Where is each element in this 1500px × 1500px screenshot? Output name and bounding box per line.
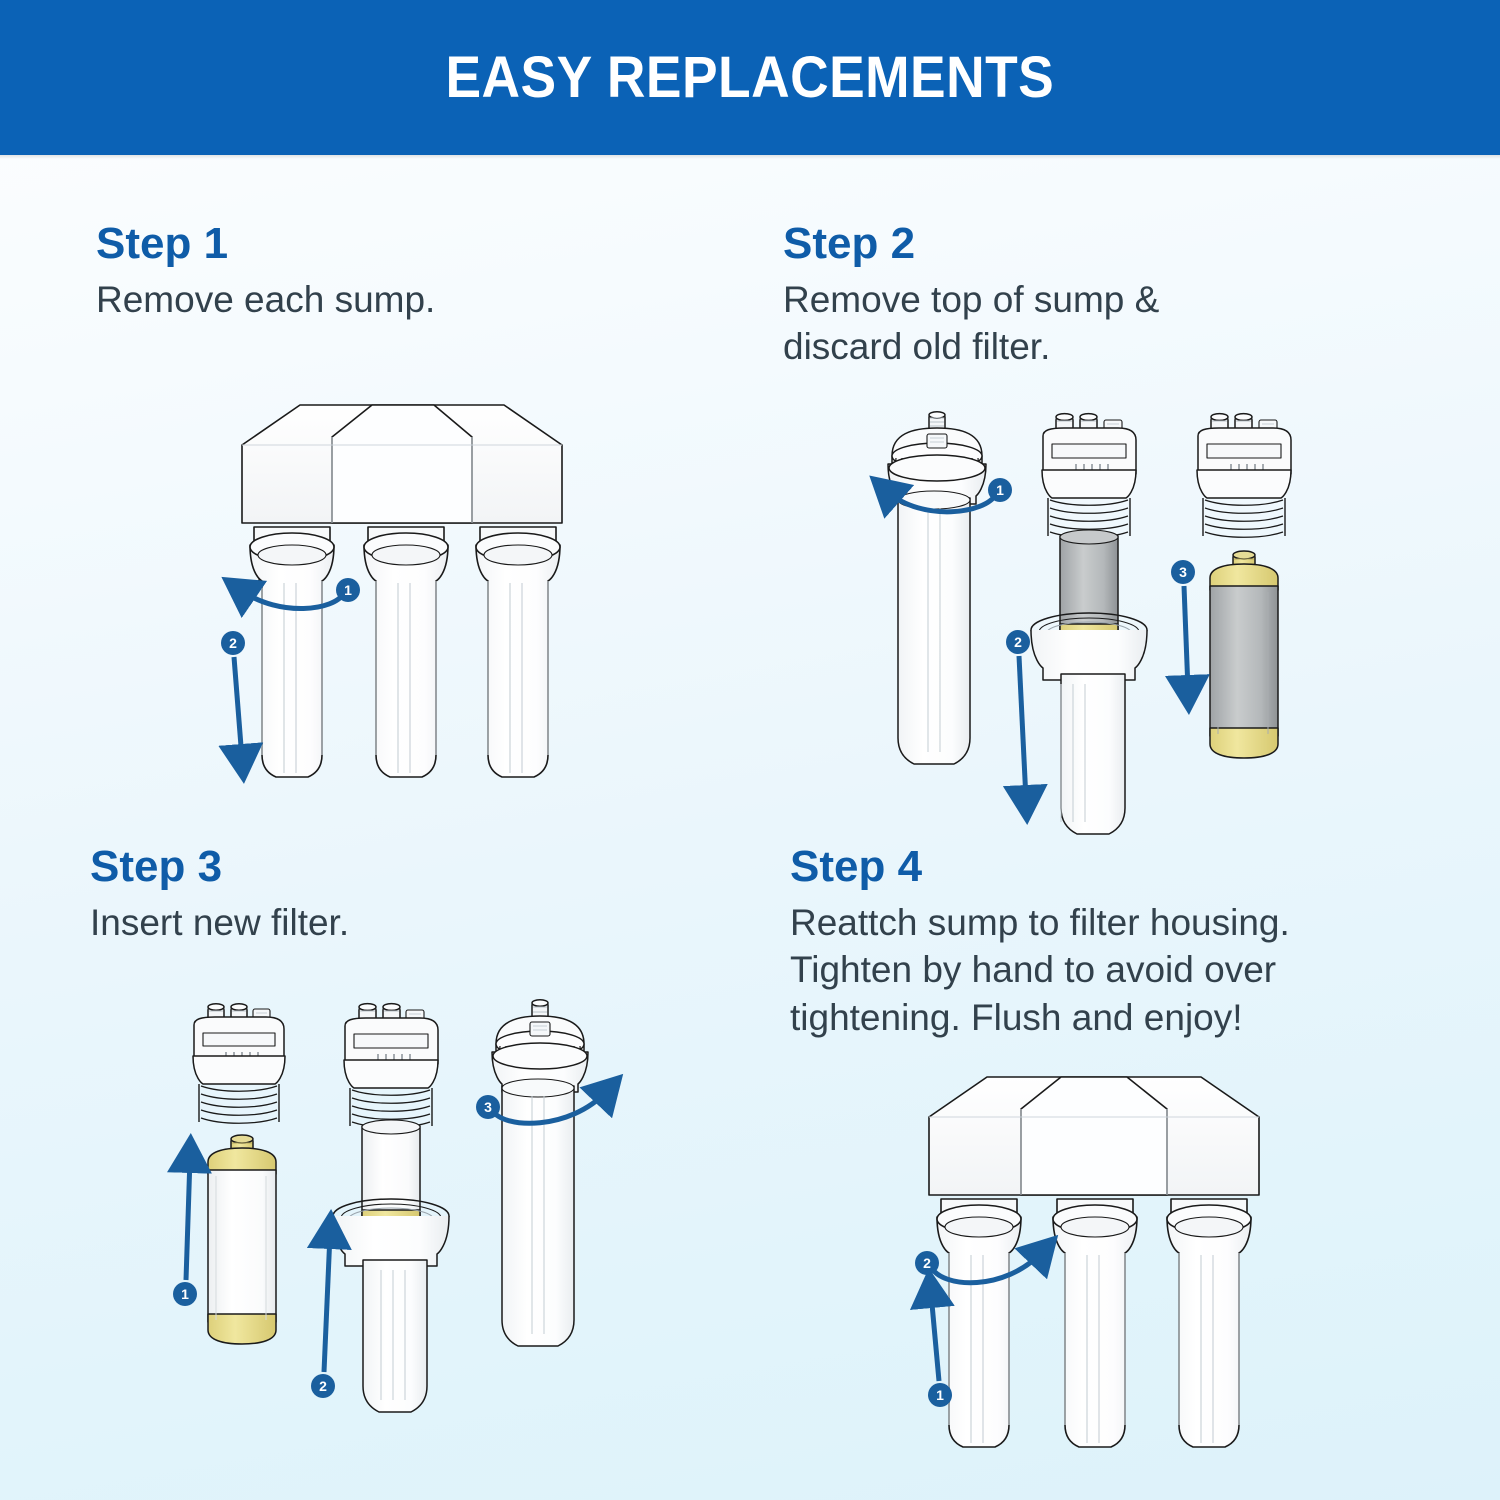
step-3-text: Insert new filter. <box>90 899 349 946</box>
filter-housing-manifold <box>242 405 562 523</box>
filter-housing-manifold <box>929 1077 1259 1195</box>
infographic-page: EASY REPLACEMENTS Step 1 Remove each sum… <box>0 0 1500 1500</box>
sump-with-cartridge-inserted <box>333 1004 449 1412</box>
step-4-text: Reattch sump to filter housing. Tighten … <box>790 899 1390 1041</box>
step-3-diagram: 1 <box>160 980 650 1410</box>
step-1-text: Remove each sump. <box>96 276 435 323</box>
header-banner: EASY REPLACEMENTS <box>0 0 1500 155</box>
assembled-sump <box>492 1000 588 1346</box>
step-2-heading: Step 2 <box>783 222 1253 266</box>
assembled-sump <box>888 412 986 764</box>
sump-center <box>364 527 448 777</box>
page-title: EASY REPLACEMENTS <box>446 44 1055 111</box>
callout-number: 2 <box>229 635 237 651</box>
sump-left <box>937 1199 1021 1447</box>
sump-right <box>476 527 560 777</box>
callout-number: 3 <box>484 1099 492 1115</box>
step-3-heading: Step 3 <box>90 845 349 889</box>
banner-divider <box>0 155 1500 159</box>
sump-right <box>1167 1199 1251 1447</box>
step-4-diagram: 2 1 <box>905 1055 1295 1465</box>
new-filter-cartridge <box>208 1135 276 1344</box>
step-4-heading: Step 4 <box>790 845 1390 889</box>
step-1-diagram: 1 2 <box>222 385 582 795</box>
callout-number: 3 <box>1179 564 1187 580</box>
sump-center <box>1053 1199 1137 1447</box>
step-1-heading: Step 1 <box>96 222 435 266</box>
step-2-diagram: 1 <box>880 408 1300 838</box>
callout-1-insert-filter: 1 <box>173 1158 197 1306</box>
step-4-block: Step 4 Reattch sump to filter housing. T… <box>790 845 1390 1041</box>
callout-number: 1 <box>344 582 352 598</box>
callout-number: 1 <box>181 1286 189 1302</box>
step-1-block: Step 1 Remove each sump. <box>96 222 435 323</box>
callout-number: 2 <box>1014 634 1022 650</box>
callout-2-raise-sump: 2 <box>311 1234 335 1398</box>
step-3-block: Step 3 Insert new filter. <box>90 845 349 946</box>
callout-2-pull-down: 2 <box>1006 630 1030 800</box>
step-2-block: Step 2 Remove top of sump & discard old … <box>783 222 1253 371</box>
callout-number: 1 <box>996 482 1004 498</box>
filter-cap <box>1197 414 1291 538</box>
callout-number: 2 <box>923 1255 931 1271</box>
sump-with-exposed-cartridge <box>1031 414 1147 834</box>
sump-left <box>250 527 334 777</box>
old-filter-cartridge <box>1210 551 1278 758</box>
step-2-text: Remove top of sump & discard old filter. <box>783 276 1253 371</box>
callout-number: 1 <box>936 1387 944 1403</box>
callout-2-pull-down: 2 <box>221 631 245 759</box>
filter-cap <box>193 1004 285 1123</box>
callout-3-remove-filter: 3 <box>1171 560 1195 690</box>
callout-number: 2 <box>319 1378 327 1394</box>
